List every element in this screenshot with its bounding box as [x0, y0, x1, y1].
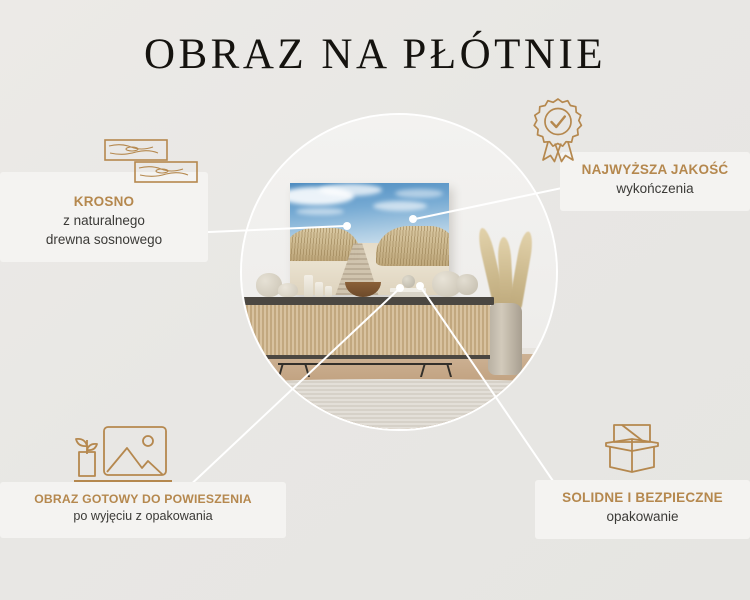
page-title: OBRAZ NA PŁÓTNIE — [0, 30, 750, 79]
sideboard-top — [240, 297, 494, 305]
wood-planks-icon — [104, 138, 204, 194]
ceramic-bowl — [278, 283, 298, 297]
feature-opakowanie-title: SOLIDNE I BEZPIECZNE — [549, 490, 736, 507]
leg — [304, 363, 310, 377]
sideboard — [240, 297, 494, 375]
feature-opakowanie-line1: opakowanie — [549, 508, 736, 526]
candle — [304, 275, 313, 297]
sideboard-fluted-front — [240, 305, 490, 359]
dune-grass-right — [376, 226, 449, 266]
decor-sphere — [402, 275, 415, 288]
sideboard-legs — [254, 363, 476, 377]
canvas-artwork — [290, 183, 449, 295]
feature-powieszenie-title: OBRAZ GOTOWY DO POWIESZENIA — [14, 492, 272, 507]
framed-picture-plant-icon — [68, 424, 180, 490]
rug — [240, 379, 558, 431]
leg — [420, 363, 426, 377]
cardboard-box-icon — [600, 420, 664, 482]
pampas-stem — [508, 230, 535, 311]
feature-krosno-line2: drewna sosnowego — [14, 231, 194, 249]
cloud — [395, 189, 443, 198]
feature-krosno-title: KROSNO — [14, 194, 194, 211]
candle — [315, 282, 323, 297]
feature-powieszenie-line1: po wyjęciu z opakowania — [14, 508, 272, 525]
candle — [325, 286, 332, 297]
quality-badge-icon — [527, 96, 589, 168]
leg — [446, 363, 452, 377]
feature-box-powieszenie[interactable]: OBRAZ GOTOWY DO POWIESZENIA po wyjęciu z… — [0, 482, 286, 538]
stacked-books — [390, 288, 426, 297]
interior-scene — [242, 115, 556, 429]
leg — [278, 363, 284, 377]
feature-box-opakowanie[interactable]: SOLIDNE I BEZPIECZNE opakowanie — [535, 480, 750, 539]
product-photo-circle — [240, 113, 558, 431]
feature-jakosc-title: NAJWYŻSZA JAKOŚĆ — [574, 162, 736, 179]
infographic-canvas: OBRAZ NA PŁÓTNIE — [0, 0, 750, 600]
cloud — [373, 201, 427, 211]
ceramic-vase — [456, 274, 478, 295]
feature-krosno-line1: z naturalnego — [14, 212, 194, 230]
feature-jakosc-line1: wykończenia — [574, 180, 736, 198]
